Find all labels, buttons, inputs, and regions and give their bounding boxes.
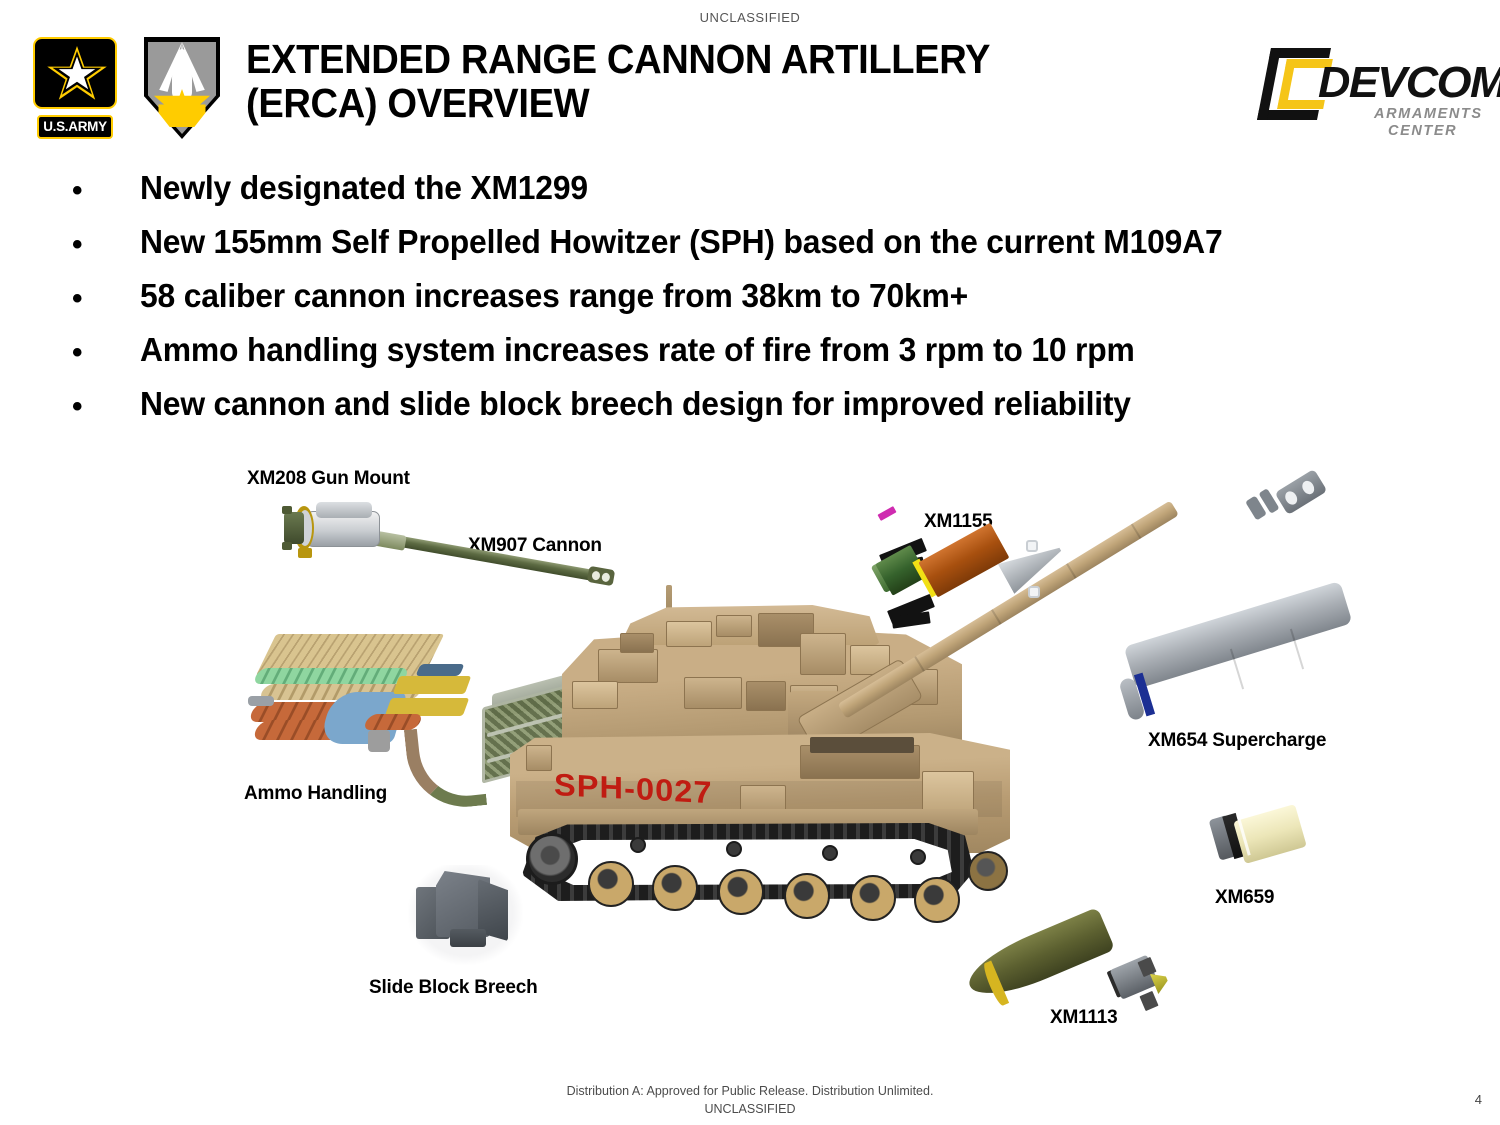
page-title: EXTENDED RANGE CANNON ARTILLERY (ERCA) O…: [246, 38, 1083, 126]
bullet-item: • New cannon and slide block breech desi…: [72, 382, 1432, 432]
turret-panel-1: [598, 649, 658, 683]
road-wheel-3: [718, 869, 764, 915]
bullet-list: • Newly designated the XM1299 • New 155m…: [72, 166, 1432, 436]
return-roller-4: [910, 849, 926, 865]
devcom-wordmark: DEVCOM: [1318, 58, 1500, 108]
return-roller-1: [630, 837, 646, 853]
bullet-marker: •: [72, 274, 140, 324]
turret-panel-5: [746, 681, 786, 711]
label-xm659: XM659: [1215, 887, 1274, 909]
xm1113-fin-lower: [1139, 991, 1158, 1011]
label-xm654-supercharge: XM654 Supercharge: [1148, 730, 1326, 752]
ammo-ram-tube: [362, 714, 424, 730]
footer: Distribution A: Approved for Public Rele…: [0, 1082, 1500, 1118]
projectile-lug-lower: [1028, 586, 1040, 598]
bullet-marker: •: [72, 166, 140, 216]
return-roller-3: [822, 845, 838, 861]
road-wheel-2: [652, 865, 698, 911]
bullet-marker: •: [72, 382, 140, 432]
turret-panel-7: [572, 681, 618, 709]
xm1155-projectile-image: [878, 510, 1078, 640]
classification-banner-top: UNCLASSIFIED: [0, 10, 1500, 25]
ammo-row-green: [252, 668, 410, 684]
turret-panel-2: [800, 633, 846, 675]
army-logo-wordmark: U.S.ARMY: [37, 115, 113, 139]
gun-mount-actuator: [298, 548, 312, 558]
road-wheel-5: [850, 875, 896, 921]
bullet-text: New cannon and slide block breech design…: [140, 382, 1131, 426]
erca-system-diagram: XM208 Gun Mount XM907 Cannon Ammo Ha: [0, 455, 1500, 1065]
label-xm1113: XM1113: [1050, 1007, 1117, 1029]
gun-mount-lug-lower: [282, 542, 292, 550]
page-title-line-1: EXTENDED RANGE CANNON ARTILLERY: [246, 38, 1083, 82]
turret-panel-4: [684, 677, 742, 709]
page-title-line-2: (ERCA) OVERVIEW: [246, 82, 1083, 126]
label-slide-block-breech: Slide Block Breech: [369, 977, 538, 999]
bullet-item: • New 155mm Self Propelled Howitzer (SPH…: [72, 220, 1432, 270]
ammo-actuator-block: [368, 730, 390, 752]
gun-mount-lug-upper: [282, 506, 292, 514]
us-army-star-logo: U.S.ARMY: [33, 37, 117, 139]
bullet-marker: •: [72, 328, 140, 378]
bullet-item: • Newly designated the XM1299: [72, 166, 1432, 216]
barrel-muzzle-brake: [1275, 469, 1328, 515]
bullet-text: Newly designated the XM1299: [140, 166, 588, 210]
classification-banner-bottom: UNCLASSIFIED: [0, 1100, 1500, 1118]
ammo-feed-tube: [248, 696, 274, 706]
page-number: 4: [1475, 1092, 1482, 1107]
devcom-shield-anvil-logo: [144, 37, 220, 139]
projectile-marking: [877, 506, 896, 521]
ammo-guide-rail-upper: [393, 676, 472, 694]
cannon-muzzle-brake: [587, 566, 615, 586]
ammo-hydraulic-line: [415, 664, 464, 676]
road-wheel-4: [784, 873, 830, 919]
cannon-barrel: [377, 532, 598, 581]
return-roller-2: [726, 841, 742, 857]
devcom-subtitle-center: CENTER: [1388, 123, 1457, 139]
drive-sprocket: [526, 833, 578, 885]
turret-hatch-2: [716, 615, 752, 637]
xm654-supercharge-image: [1118, 610, 1368, 750]
devcom-subtitle-armaments: ARMAMENTS: [1374, 106, 1483, 122]
bullet-item: • 58 caliber cannon increases range from…: [72, 274, 1432, 324]
xm659-primer-image: [1208, 798, 1328, 878]
army-logo-plate: [33, 37, 117, 109]
bullet-text: New 155mm Self Propelled Howitzer (SPH) …: [140, 220, 1222, 264]
footer-distribution-statement: Distribution A: Approved for Public Rele…: [0, 1082, 1500, 1100]
bullet-marker: •: [72, 220, 140, 270]
bullet-item: • Ammo handling system increases rate of…: [72, 328, 1432, 378]
bullet-text: Ammo handling system increases rate of f…: [140, 328, 1135, 372]
hull-lift-eye: [526, 745, 552, 771]
gun-mount-breech-end: [284, 512, 304, 544]
projectile-body: [918, 523, 1009, 598]
projectile-lug-upper: [1026, 540, 1038, 552]
bullet-text: 58 caliber cannon increases range from 3…: [140, 274, 968, 318]
hull-grille: [810, 737, 914, 753]
label-xm208-gun-mount: XM208 Gun Mount: [247, 468, 410, 490]
road-wheel-6: [914, 877, 960, 923]
idler-wheel: [968, 851, 1008, 891]
label-ammo-handling: Ammo Handling: [244, 783, 387, 805]
gun-mount-upper-housing: [316, 502, 372, 518]
turret-sight-housing: [620, 633, 654, 653]
devcom-armaments-center-logo: DEVCOM ARMAMENTS CENTER: [1262, 44, 1478, 136]
turret-hatch-1: [666, 621, 712, 647]
road-wheel-1: [588, 861, 634, 907]
